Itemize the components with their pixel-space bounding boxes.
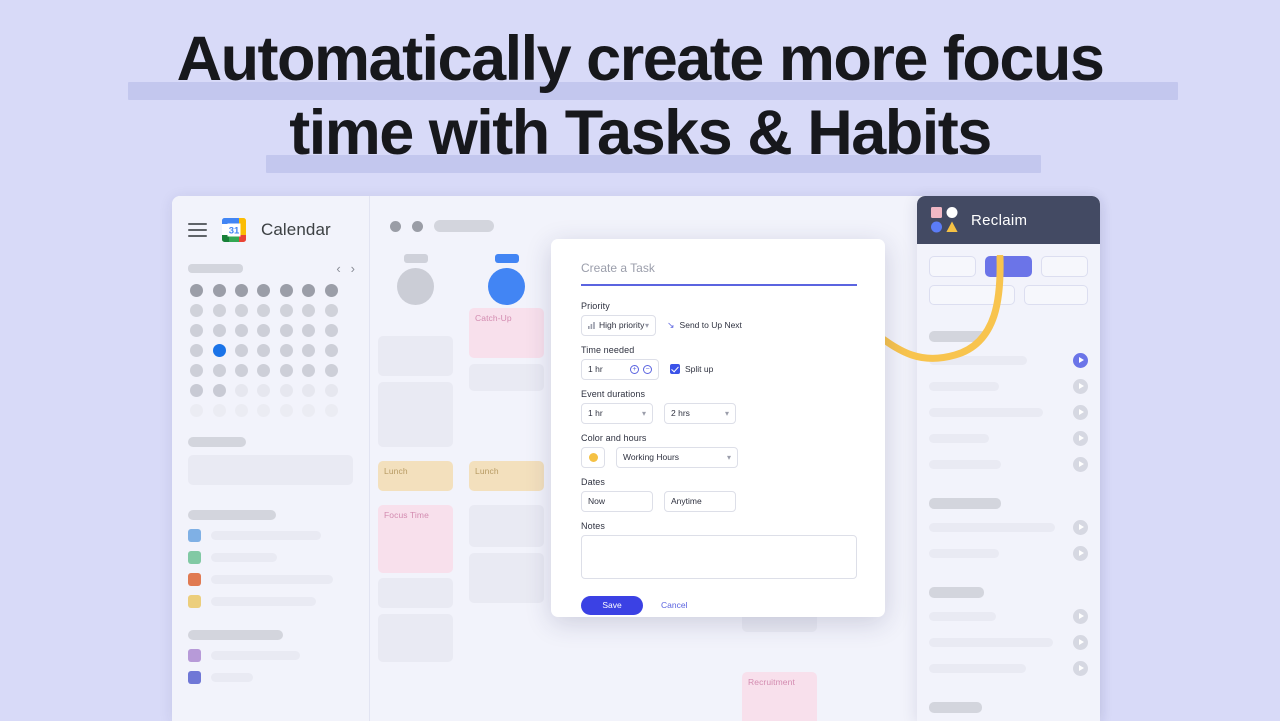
reclaim-filter[interactable] — [1024, 285, 1088, 305]
reclaim-section-heading — [929, 587, 984, 598]
send-to-up-next-label: Send to Up Next — [680, 320, 742, 330]
mini-calendar-grid[interactable] — [188, 284, 340, 417]
reclaim-task-name — [929, 549, 999, 558]
modal-actions: Save Cancel — [581, 596, 857, 615]
mini-calendar-day[interactable] — [190, 364, 203, 377]
reclaim-section — [929, 587, 1088, 676]
play-icon[interactable] — [1073, 353, 1088, 368]
calendar-list-item[interactable] — [188, 529, 353, 542]
mini-calendar-day[interactable] — [280, 344, 293, 357]
event-duration-min-select[interactable]: 1 hr ▾ — [581, 403, 653, 424]
mini-calendar-day[interactable] — [257, 304, 270, 317]
working-hours-value: Working Hours — [623, 452, 679, 462]
calendar-event[interactable] — [378, 336, 453, 376]
mini-calendar-day[interactable] — [257, 344, 270, 357]
my-calendars-heading — [188, 510, 276, 520]
date-end-field[interactable]: Anytime — [664, 491, 736, 512]
calendar-event[interactable]: Focus Time — [378, 505, 453, 573]
reclaim-panel: Reclaim — [917, 196, 1100, 721]
mini-calendar-day[interactable] — [190, 304, 203, 317]
sidebar-search-box[interactable] — [188, 455, 353, 485]
chevron-down-icon: ▾ — [725, 409, 729, 418]
chevron-left-icon[interactable]: ‹ — [336, 262, 340, 275]
toolbar-date-range — [434, 220, 494, 232]
calendar-app-title: Calendar — [261, 220, 331, 240]
calendar-color-chip — [188, 649, 201, 662]
arrow-down-right-icon: ↘ — [667, 320, 675, 331]
mini-calendar-day[interactable] — [280, 384, 293, 397]
mini-calendar-day[interactable] — [325, 364, 338, 377]
reclaim-task-item[interactable] — [929, 609, 1088, 624]
mini-calendar-day[interactable] — [280, 304, 293, 317]
reclaim-logo-icon — [931, 207, 960, 233]
date-start-field[interactable]: Now — [581, 491, 653, 512]
calendar-name — [211, 673, 253, 682]
create-task-modal: Create a Task Priority High priority ▾ ↘… — [551, 239, 885, 617]
chevron-down-icon: ▾ — [727, 453, 731, 462]
reclaim-task-item[interactable] — [929, 379, 1088, 394]
event-duration-max-select[interactable]: 2 hrs ▾ — [664, 403, 736, 424]
headline-highlight-bar-2 — [266, 155, 1041, 173]
mini-calendar-day[interactable] — [213, 344, 226, 357]
day-of-week-label — [495, 254, 519, 263]
calendar-list-item[interactable] — [188, 649, 353, 662]
day-column-header — [461, 254, 552, 305]
reclaim-section-heading — [929, 498, 1001, 509]
mini-calendar-day[interactable] — [325, 384, 338, 397]
split-up-checkbox[interactable] — [670, 364, 680, 374]
mini-calendar-day[interactable] — [235, 384, 248, 397]
send-to-up-next-button[interactable]: ↘ Send to Up Next — [667, 320, 742, 331]
calendar-event-title: Lunch — [469, 461, 544, 476]
reclaim-task-item[interactable] — [929, 520, 1088, 535]
calendar-color-chip — [188, 551, 201, 564]
mini-calendar-day[interactable] — [302, 304, 315, 317]
mini-calendar-day[interactable] — [325, 304, 338, 317]
notes-textarea[interactable] — [581, 535, 857, 579]
reclaim-task-name — [929, 638, 1053, 647]
chevron-right-icon[interactable]: › — [351, 262, 355, 275]
calendar-name — [211, 553, 277, 562]
reclaim-task-item[interactable] — [929, 431, 1088, 446]
calendar-color-chip — [188, 671, 201, 684]
play-icon[interactable] — [1073, 431, 1088, 446]
date-start-value: Now — [588, 496, 605, 506]
time-needed-label: Time needed — [581, 345, 857, 355]
chevron-down-icon: ▾ — [645, 321, 649, 330]
calendar-sidebar: 31 Calendar ‹ › — [172, 196, 370, 721]
mini-calendar-day[interactable] — [257, 364, 270, 377]
mini-calendar-day[interactable] — [190, 404, 203, 417]
mini-calendar-day[interactable] — [213, 384, 226, 397]
mini-calendar-day[interactable] — [280, 404, 293, 417]
reclaim-task-sections — [929, 331, 1088, 721]
minus-circle-icon[interactable]: − — [643, 365, 652, 374]
calendar-list-item[interactable] — [188, 551, 353, 564]
mini-calendar-day[interactable] — [280, 324, 293, 337]
reclaim-task-name — [929, 460, 1001, 469]
date-end-value: Anytime — [671, 496, 702, 506]
calendar-logo-day: 31 — [229, 226, 240, 237]
calendar-event[interactable] — [378, 578, 453, 608]
calendar-day-column[interactable]: LunchFocus Time — [370, 248, 461, 721]
reclaim-section-heading — [929, 331, 986, 342]
save-button[interactable]: Save — [581, 596, 643, 615]
color-swatch-picker[interactable] — [581, 447, 605, 468]
mini-calendar-day[interactable] — [325, 324, 338, 337]
mini-calendar-day[interactable] — [190, 284, 203, 297]
mini-calendar-day[interactable] — [302, 404, 315, 417]
mini-calendar-day[interactable] — [235, 304, 248, 317]
my-calendars-block — [172, 510, 369, 608]
google-calendar-icon: 31 — [220, 216, 248, 244]
color-swatch — [589, 453, 598, 462]
mini-calendar-day[interactable] — [190, 384, 203, 397]
mini-calendar-day[interactable] — [280, 364, 293, 377]
reclaim-tab[interactable] — [1041, 256, 1088, 277]
reclaim-task-name — [929, 523, 1055, 532]
mini-calendar-day[interactable] — [235, 404, 248, 417]
reclaim-section — [929, 702, 1088, 721]
mini-calendar-day[interactable] — [235, 364, 248, 377]
modal-title: Create a Task — [581, 261, 857, 284]
calendar-day-column[interactable]: Catch-UpLunch — [461, 248, 552, 721]
mini-calendar-day[interactable] — [257, 384, 270, 397]
day-column-header — [370, 254, 461, 305]
color-and-hours-label: Color and hours — [581, 433, 857, 443]
split-up-toggle[interactable]: Split up — [670, 364, 713, 374]
calendar-event-title: Lunch — [378, 461, 453, 476]
mini-calendar-day[interactable] — [325, 404, 338, 417]
play-icon[interactable] — [1073, 379, 1088, 394]
calendar-list-item[interactable] — [188, 573, 353, 586]
headline-highlight-bar-1 — [128, 82, 1178, 100]
mini-calendar-day[interactable] — [190, 344, 203, 357]
calendar-event-title: Catch-Up — [469, 308, 544, 323]
mini-calendar-month-label — [188, 264, 243, 273]
calendar-event[interactable]: Catch-Up — [469, 308, 544, 358]
reclaim-filter[interactable] — [929, 285, 1015, 305]
reclaim-task-name — [929, 382, 999, 391]
reclaim-task-name — [929, 612, 996, 621]
reclaim-section — [929, 498, 1088, 561]
other-calendars-heading — [188, 630, 283, 640]
event-duration-min-value: 1 hr — [588, 408, 603, 418]
mini-calendar-day[interactable] — [235, 284, 248, 297]
calendar-event[interactable]: Lunch — [469, 461, 544, 491]
calendar-event[interactable] — [378, 382, 453, 447]
toolbar-dot[interactable] — [390, 221, 401, 232]
reclaim-task-item[interactable] — [929, 635, 1088, 650]
other-calendars-list — [188, 649, 353, 684]
mini-calendar-day[interactable] — [302, 284, 315, 297]
reclaim-task-name — [929, 408, 1043, 417]
mini-calendar-day[interactable] — [213, 324, 226, 337]
play-icon[interactable] — [1073, 457, 1088, 472]
mini-calendar-day[interactable] — [280, 284, 293, 297]
calendar-name — [211, 575, 333, 584]
priority-select[interactable]: High priority ▾ — [581, 315, 656, 336]
reclaim-task-item[interactable] — [929, 353, 1088, 368]
mini-calendar-day[interactable] — [213, 404, 226, 417]
calendar-event[interactable] — [469, 505, 544, 547]
calendar-event-title: Recruitment — [742, 672, 817, 687]
reclaim-task-name — [929, 434, 989, 443]
mini-calendar-day[interactable] — [257, 404, 270, 417]
event-duration-max-value: 2 hrs — [671, 408, 690, 418]
bar-chart-icon — [588, 322, 595, 329]
reclaim-task-item[interactable] — [929, 457, 1088, 472]
reclaim-header: Reclaim — [917, 196, 1100, 244]
split-up-label: Split up — [685, 364, 713, 374]
sidebar-block-heading — [188, 437, 246, 447]
calendar-name — [211, 651, 300, 660]
priority-label: Priority — [581, 301, 857, 311]
calendar-list-item[interactable] — [188, 671, 353, 684]
reclaim-tab[interactable] — [929, 256, 976, 277]
reclaim-task-name — [929, 356, 1027, 365]
mini-calendar-day[interactable] — [213, 304, 226, 317]
mini-calendar-day[interactable] — [213, 284, 226, 297]
calendar-event[interactable]: Lunch — [378, 461, 453, 491]
calendar-event[interactable] — [469, 364, 544, 391]
calendar-event[interactable] — [378, 614, 453, 662]
mini-calendar-day[interactable] — [235, 324, 248, 337]
sidebar-search-block — [172, 437, 369, 485]
play-icon[interactable] — [1073, 661, 1088, 676]
plus-circle-icon[interactable]: + — [630, 365, 639, 374]
day-number[interactable] — [488, 268, 525, 305]
priority-value: High priority — [599, 320, 644, 330]
calendar-event[interactable] — [469, 553, 544, 603]
mini-calendar-day[interactable] — [257, 324, 270, 337]
time-needed-value: 1 hr — [588, 364, 603, 374]
mini-calendar-day[interactable] — [325, 284, 338, 297]
play-icon[interactable] — [1073, 520, 1088, 535]
reclaim-section — [929, 331, 1088, 472]
reclaim-task-item[interactable] — [929, 405, 1088, 420]
mini-calendar-day[interactable] — [257, 284, 270, 297]
calendar-name — [211, 531, 321, 540]
reclaim-tab-row[interactable] — [929, 256, 1088, 277]
other-calendars-block — [172, 630, 369, 684]
calendar-color-chip — [188, 573, 201, 586]
event-durations-label: Event durations — [581, 389, 857, 399]
working-hours-select[interactable]: Working Hours ▾ — [616, 447, 738, 468]
calendar-color-chip — [188, 529, 201, 542]
play-icon[interactable] — [1073, 546, 1088, 561]
my-calendars-list — [188, 529, 353, 608]
mini-calendar-day[interactable] — [190, 324, 203, 337]
reclaim-task-name — [929, 664, 1026, 673]
calendar-color-chip — [188, 595, 201, 608]
cancel-button[interactable]: Cancel — [661, 600, 687, 610]
chevron-down-icon: ▾ — [642, 409, 646, 418]
calendar-event-title: Focus Time — [378, 505, 453, 520]
day-number[interactable] — [397, 268, 434, 305]
notes-label: Notes — [581, 521, 857, 531]
mini-calendar-day[interactable] — [302, 324, 315, 337]
day-of-week-label — [404, 254, 428, 263]
mini-calendar-day[interactable] — [302, 344, 315, 357]
reclaim-filter-row[interactable] — [929, 285, 1088, 305]
mini-calendar-day[interactable] — [302, 364, 315, 377]
play-icon[interactable] — [1073, 635, 1088, 650]
calendar-name — [211, 597, 316, 606]
calendar-list-item[interactable] — [188, 595, 353, 608]
hamburger-icon[interactable] — [188, 223, 207, 237]
play-icon[interactable] — [1073, 405, 1088, 420]
reclaim-title: Reclaim — [971, 212, 1027, 229]
reclaim-tab-active[interactable] — [985, 256, 1032, 277]
reclaim-task-item[interactable] — [929, 661, 1088, 676]
play-icon[interactable] — [1073, 609, 1088, 624]
mini-calendar-day[interactable] — [302, 384, 315, 397]
mini-calendar-day[interactable] — [213, 364, 226, 377]
mini-calendar-day[interactable] — [235, 344, 248, 357]
reclaim-section-heading — [929, 702, 982, 713]
calendar-header: 31 Calendar — [172, 196, 369, 244]
mini-calendar-toolbar: ‹ › — [188, 262, 355, 275]
reclaim-task-item[interactable] — [929, 546, 1088, 561]
reclaim-body — [917, 244, 1100, 721]
calendar-event[interactable]: Recruitment — [742, 672, 817, 721]
mini-calendar: ‹ › — [172, 244, 369, 417]
toolbar-dot[interactable] — [412, 221, 423, 232]
time-needed-field[interactable]: 1 hr + − — [581, 359, 659, 380]
mini-calendar-day[interactable] — [325, 344, 338, 357]
dates-label: Dates — [581, 477, 857, 487]
modal-title-underline — [581, 284, 857, 286]
